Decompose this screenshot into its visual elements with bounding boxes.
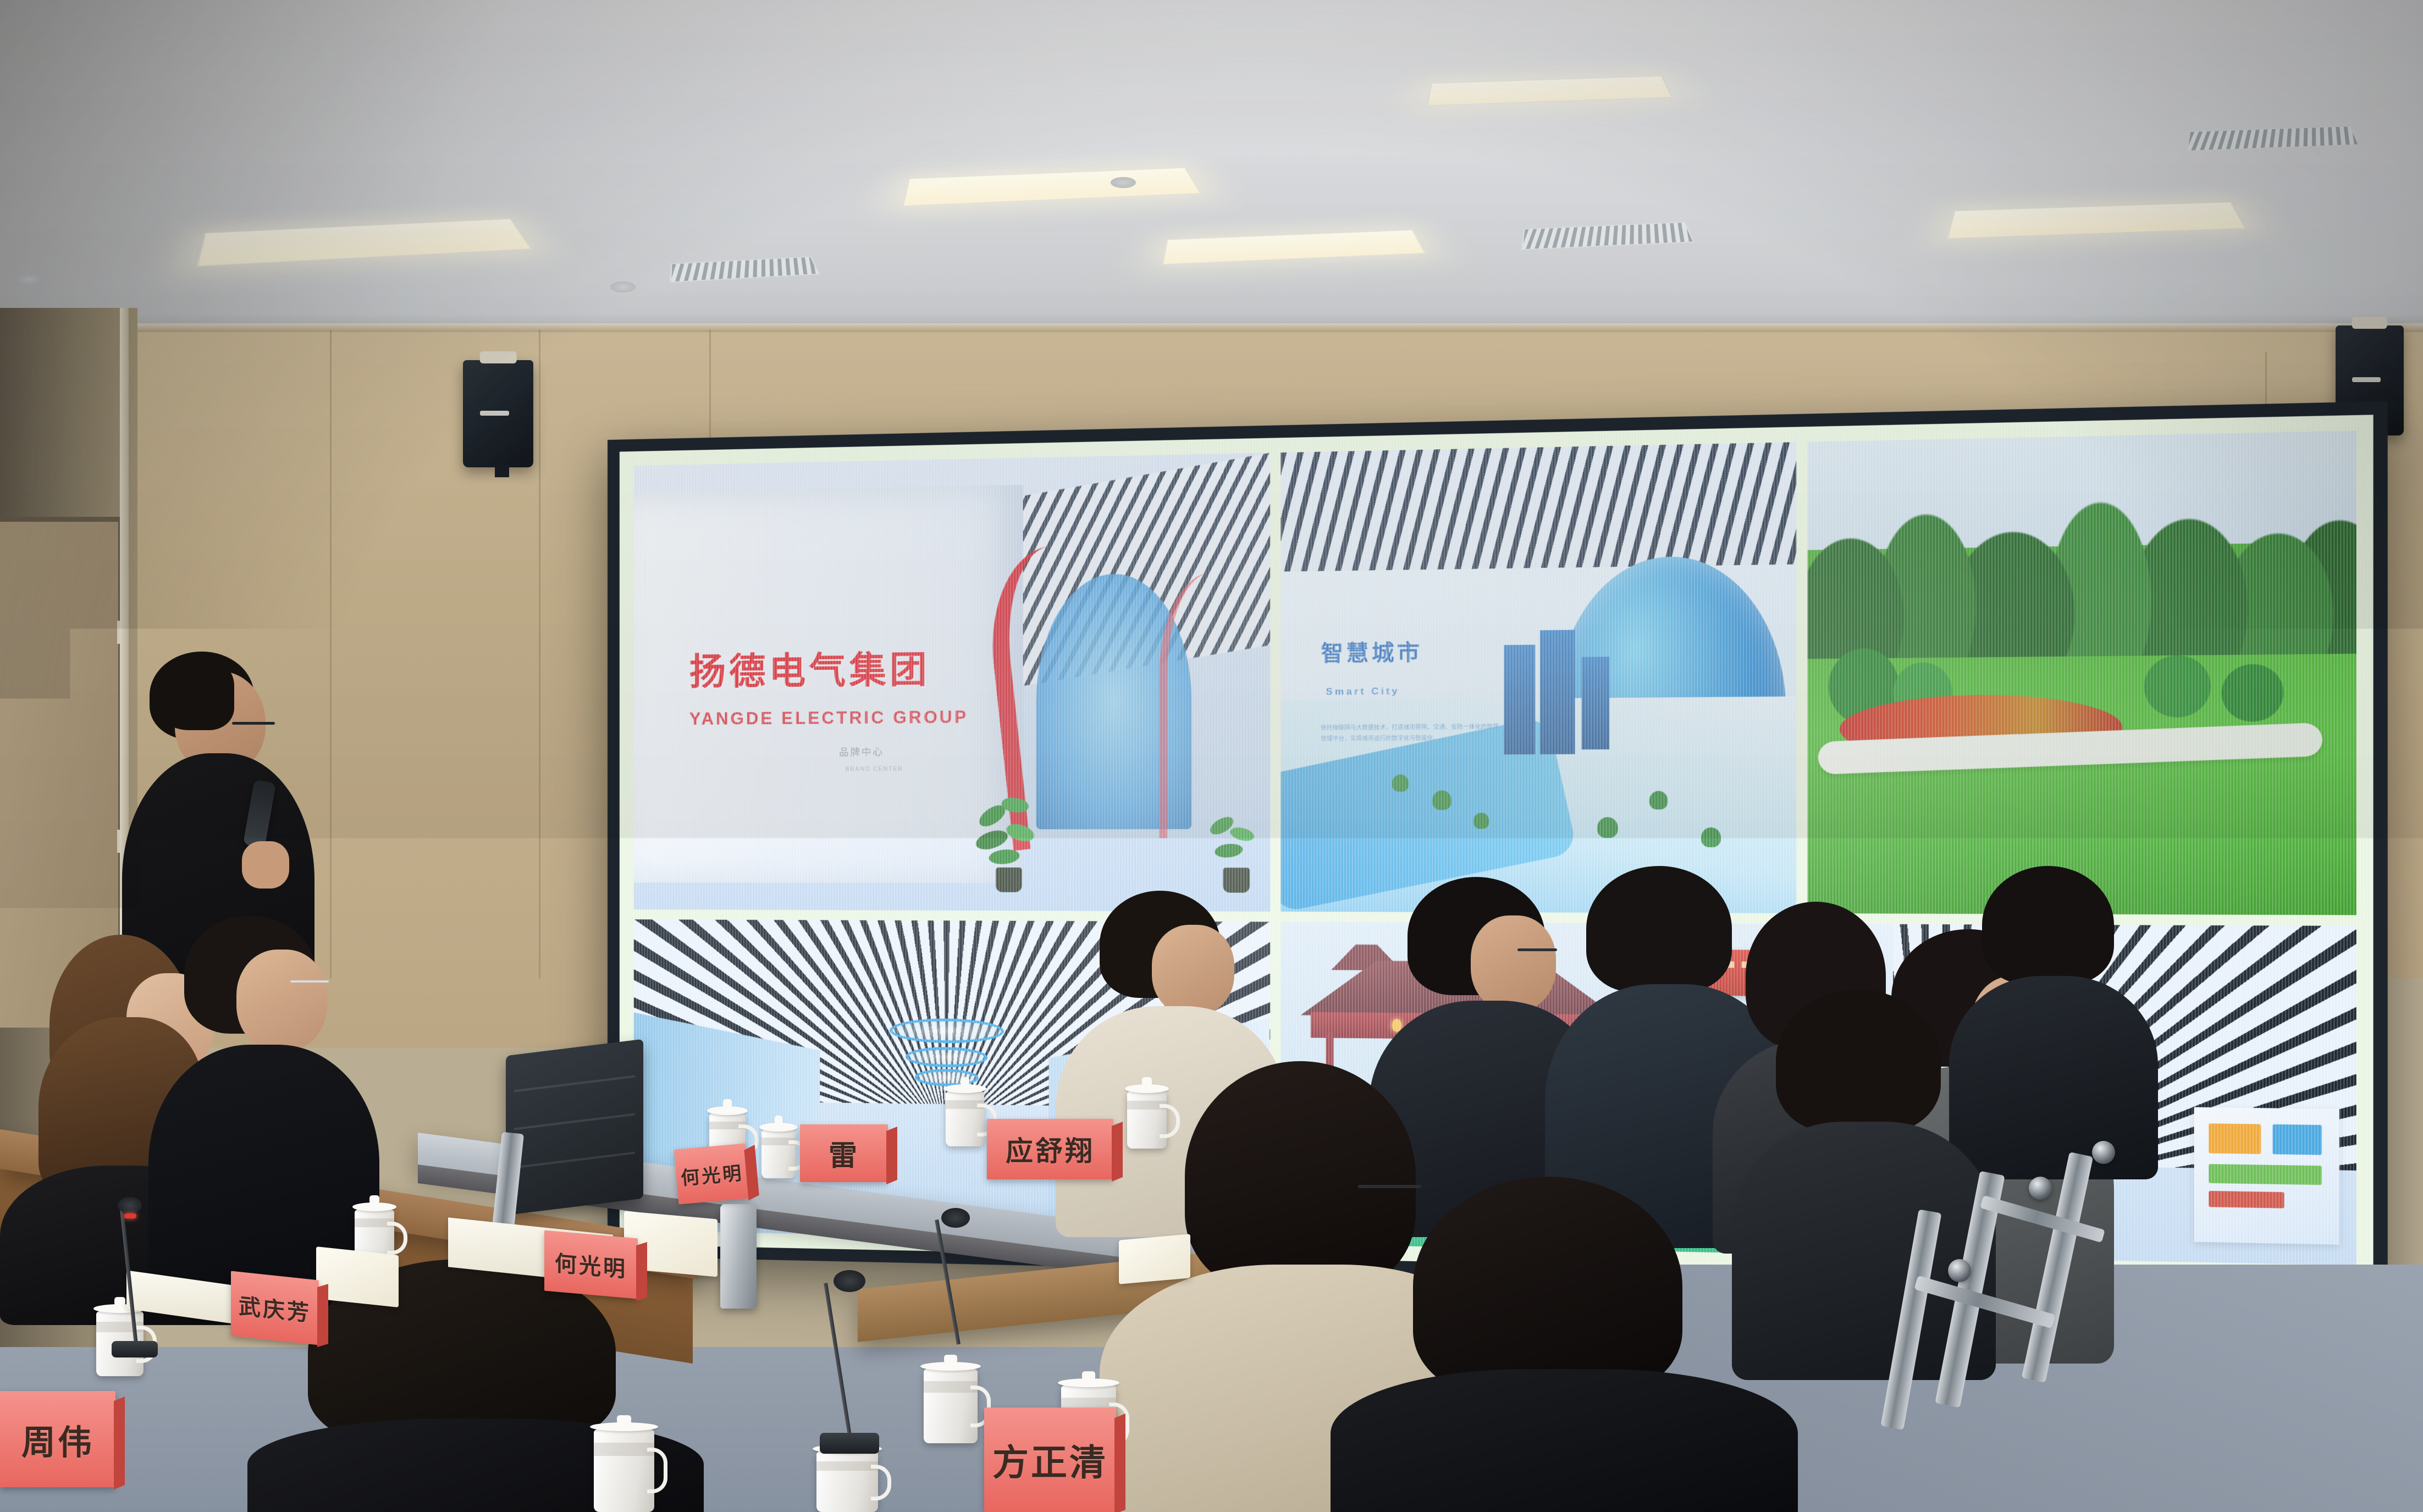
name-placard: 周伟 (0, 1391, 115, 1487)
chair-adjust-knob[interactable] (1948, 1259, 1971, 1282)
name-placard: 何光明 (674, 1144, 750, 1205)
gooseneck-microphone[interactable] (110, 1207, 159, 1350)
wall-trim (0, 323, 2423, 332)
ceiling-shadow (0, 0, 605, 352)
attendee-black-jacket-foreground (1364, 1177, 1759, 1512)
model-tree (1392, 775, 1408, 792)
smoke-detector-icon (16, 274, 42, 285)
attendee-face (1471, 915, 1556, 1012)
placard-name: 何光明 (680, 1158, 744, 1190)
presenter-hand (242, 841, 289, 889)
model-tree (1702, 827, 1721, 847)
plant-pot (1223, 868, 1250, 893)
chair-adjust-knob[interactable] (2092, 1141, 2115, 1164)
wall-panel-seam (709, 330, 711, 445)
product-display-board (2194, 1107, 2339, 1245)
attendee-body (1331, 1369, 1798, 1512)
speaker-mount (480, 351, 517, 363)
smart-city-heading-cn: 智慧城市 (1321, 634, 1422, 667)
attendee-glasses (1517, 948, 1557, 951)
name-placard: 应舒翔 (987, 1119, 1113, 1179)
name-placard: 何光明 (544, 1230, 638, 1299)
name-placard: 雷 (800, 1124, 888, 1182)
teacup[interactable] (816, 1452, 878, 1512)
model-tower (1582, 656, 1610, 749)
slide-row-top: 扬德电气集团 YANGDE ELECTRIC GROUP 品牌中心 BRAND … (634, 431, 2356, 915)
model-tree (1432, 791, 1451, 810)
model-tower (1540, 630, 1575, 754)
teacup[interactable] (1127, 1091, 1167, 1149)
wall-panel-seam (539, 330, 540, 979)
attendee-face (236, 950, 327, 1051)
placard-name: 何光明 (555, 1245, 627, 1284)
tissue-box[interactable] (1119, 1234, 1190, 1284)
attendee-back-row-right (1748, 990, 1979, 1375)
attendee-body (1949, 976, 2158, 1179)
brand-heading-cn: 扬德电气集团 (689, 640, 930, 696)
ceiling-stripes (1281, 442, 1796, 572)
smoke-detector-icon (610, 282, 636, 293)
plant-pot (996, 868, 1022, 892)
teacup[interactable] (594, 1430, 654, 1512)
wall-speaker-left (463, 360, 533, 467)
brand-heading-en: YANGDE ELECTRIC GROUP (689, 707, 969, 729)
potted-plant (1205, 808, 1269, 893)
attendee-hair (1586, 866, 1732, 992)
chair-adjust-knob[interactable] (2029, 1177, 2052, 1200)
smart-city-body-text: 依托物联网与大数据技术，打造城市照明、交通、安防一体化的智慧管理平台，实现城市运… (1321, 722, 1504, 745)
attendee-hair (1413, 1177, 1682, 1397)
speaker-brand-label (2352, 377, 2381, 382)
gooseneck-microphone[interactable] (929, 1218, 984, 1344)
speaker-mount (2352, 317, 2387, 329)
name-placard: 方正清 (984, 1408, 1116, 1512)
gooseneck-microphone[interactable] (291, 1298, 352, 1479)
attendee-hair (1776, 990, 1941, 1133)
garden-shrub (2222, 664, 2283, 722)
slide-panel-smart-city: 智慧城市 Smart City 依托物联网与大数据技术，打造城市照明、交通、安防… (1281, 442, 1796, 913)
model-tree (1597, 817, 1618, 838)
slide-panel-landscape-garden (1807, 431, 2356, 915)
gooseneck-microphone[interactable] (819, 1281, 880, 1446)
brand-sub-cn: 品牌中心 (839, 744, 884, 758)
brand-sub-en: BRAND CENTER (846, 766, 903, 773)
speaker-foot (495, 465, 509, 477)
conference-chair[interactable] (506, 1039, 643, 1216)
model-tower (1504, 644, 1536, 754)
attendee-hair (1982, 866, 2114, 984)
presenter-glasses (232, 722, 275, 725)
model-tree (1649, 791, 1667, 810)
teacup[interactable] (924, 1369, 978, 1443)
teacup[interactable] (946, 1091, 984, 1146)
placard-name: 方正清 (992, 1433, 1108, 1486)
smart-city-heading-en: Smart City (1326, 686, 1400, 698)
placard-name: 周伟 (21, 1415, 94, 1464)
placard-name: 应舒翔 (1006, 1129, 1095, 1169)
placard-name: 雷 (829, 1133, 859, 1174)
thermos-flask[interactable] (720, 1204, 757, 1309)
attendee-dark-rear-right (1957, 866, 2144, 1174)
speaker-brand-label (480, 411, 510, 416)
teacup[interactable] (761, 1130, 796, 1178)
garden-shrub (2144, 655, 2211, 718)
potted-plant (972, 791, 1046, 892)
conference-room-scene: 扬德电气集团 YANGDE ELECTRIC GROUP 品牌中心 BRAND … (0, 0, 2423, 1512)
garden-treeline (1807, 489, 2356, 659)
smoke-detector-icon (1111, 177, 1136, 188)
slide-panel-brand-hall: 扬德电气集团 YANGDE ELECTRIC GROUP 品牌中心 BRAND … (634, 453, 1270, 912)
attendee-face (1152, 925, 1234, 1016)
model-tree (1473, 813, 1489, 829)
attendee-glasses (290, 980, 329, 983)
